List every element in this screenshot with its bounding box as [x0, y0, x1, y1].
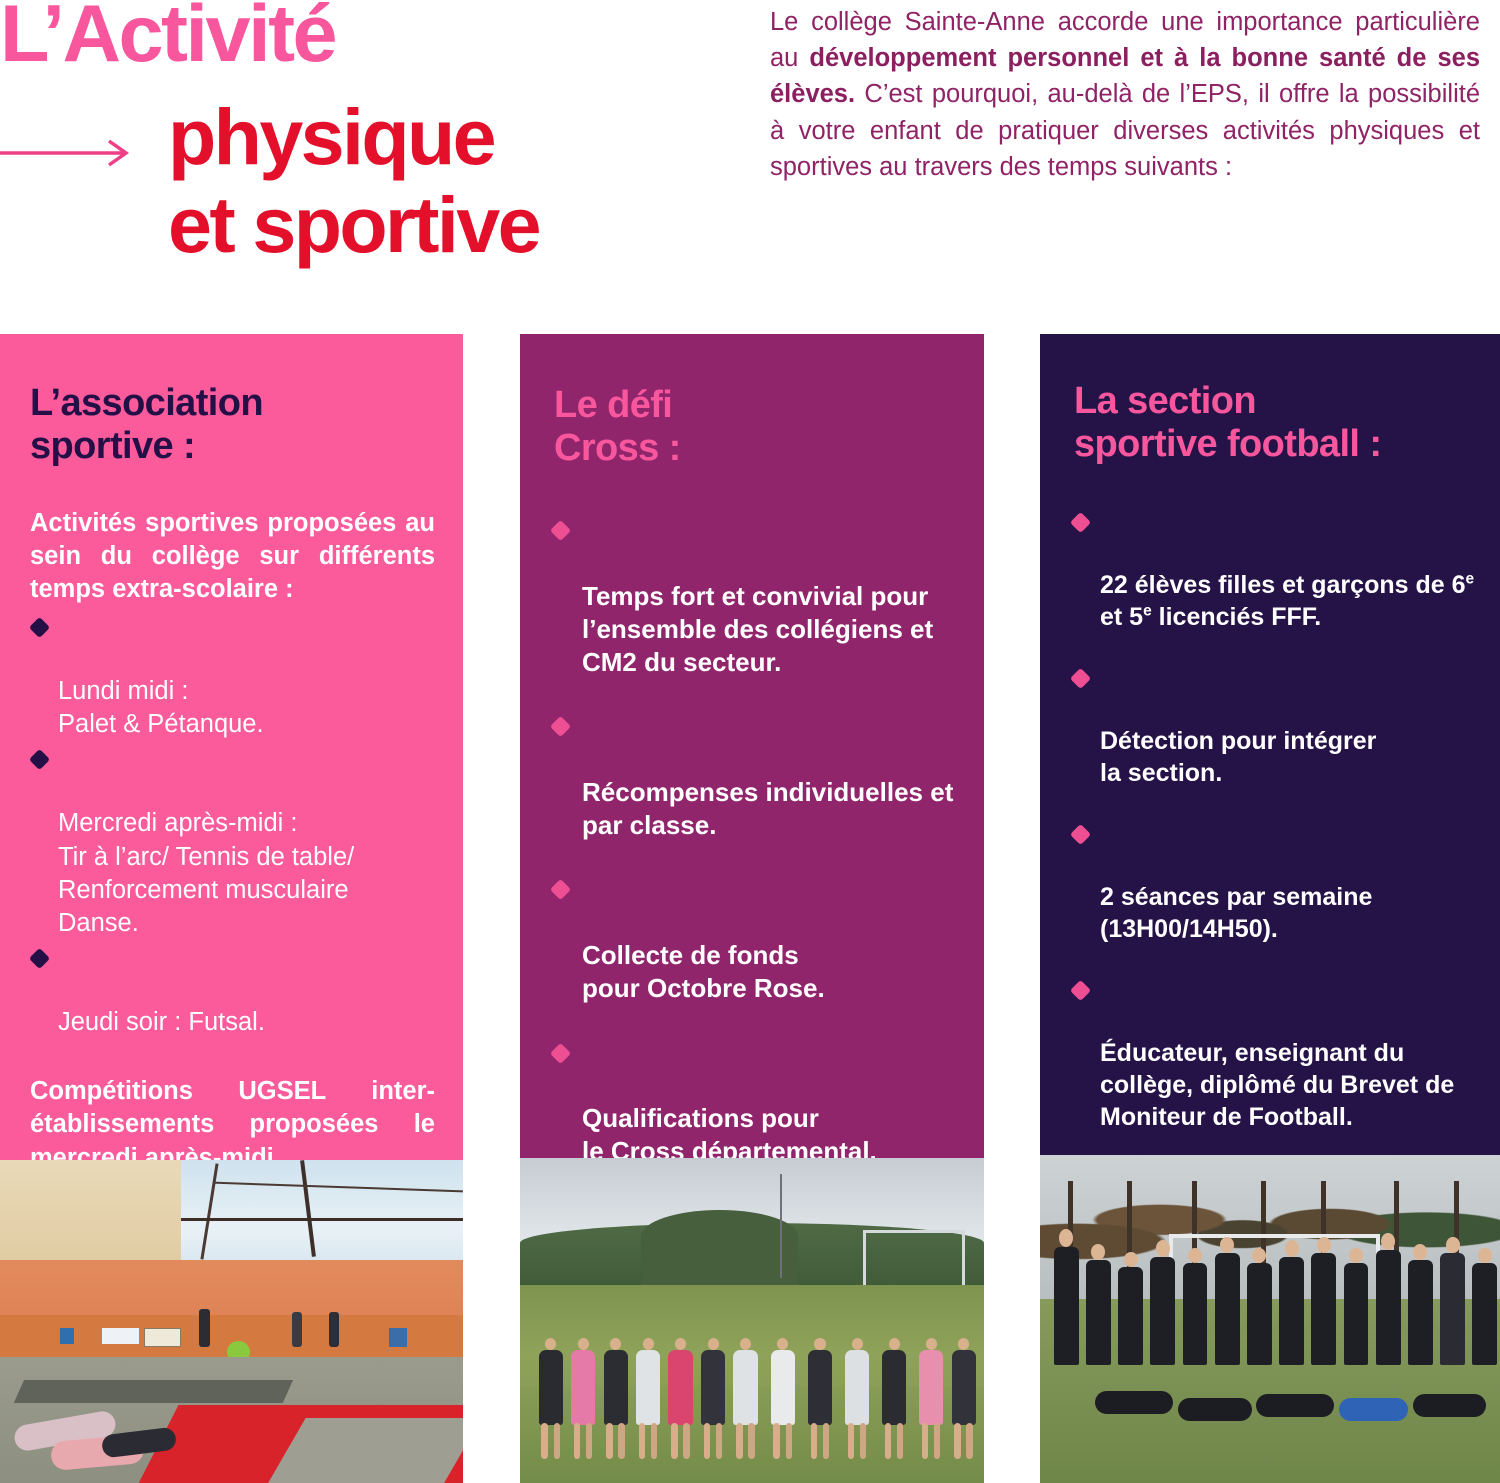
diamond-bullet-icon [1070, 980, 1091, 1001]
list-item-label: Mercredi après-midi : Tir à l’arc/ Tenni… [58, 809, 354, 936]
card-association-heading: L’association sportive : [0, 334, 463, 467]
list-item: Éducateur, enseignant du collège, diplôm… [1072, 973, 1478, 1133]
football-team-photo [1040, 1155, 1500, 1483]
diamond-bullet-icon [550, 520, 571, 541]
diamond-bullet-icon [550, 716, 571, 737]
card-cross-heading: Le défi Cross : [520, 334, 984, 469]
list-item-label: Collecte de fonds pour Octobre Rose. [582, 940, 825, 1003]
diamond-bullet-icon [29, 948, 50, 969]
association-activity-list: Lundi midi : Palet & Pétanque. Mercredi … [30, 609, 435, 1040]
card-association-content: Activités sportives proposées au sein du… [0, 467, 463, 1160]
football-bullet-list: 22 élèves filles et garçons de 6e et 5e … [1040, 465, 1500, 1155]
gymnase-training-photo [0, 1160, 463, 1483]
diamond-bullet-icon [29, 616, 50, 637]
page-header: L’Activité physique et sportive Le collè… [0, 0, 1500, 334]
diamond-bullet-icon [1070, 824, 1091, 845]
list-item: 2 séances par semaine (13H00/14H50). [1072, 817, 1478, 945]
diamond-bullet-icon [29, 749, 50, 770]
association-lead-text: Activités sportives proposées au sein du… [30, 507, 435, 606]
list-item-label: Détection pour intégrer la section. [1100, 727, 1376, 787]
column-gap-2 [984, 334, 1040, 1483]
card-section-sportive-football: La section sportive football : 22 élèves… [1040, 334, 1500, 1483]
list-item-label: Temps fort et convivial pour l’ensemble … [582, 581, 933, 678]
list-item-label: Éducateur, enseignant du collège, diplôm… [1100, 1039, 1454, 1131]
list-item-label: Lundi midi : Palet & Pétanque. [58, 677, 264, 738]
list-item: Mercredi après-midi : Tir à l’arc/ Tenni… [30, 741, 435, 940]
card-football-body: La section sportive football : 22 élèves… [1040, 334, 1500, 1155]
intro-text-2: C’est pourquoi, au-delà de l’EPS, il off… [770, 80, 1480, 180]
card-association-sportive: L’association sportive : Activités sport… [0, 334, 463, 1483]
page-title-line-1: L’Activité [0, 0, 335, 75]
page-title-line-2: physique [168, 100, 494, 173]
list-item-label: Jeudi soir : Futsal. [58, 1008, 265, 1036]
title-block: L’Activité physique et sportive [0, 0, 720, 300]
card-association-body: L’association sportive : Activités sport… [0, 334, 463, 1160]
list-item: Détection pour intégrer la section. [1072, 661, 1478, 789]
list-item: Temps fort et convivial pour l’ensemble … [552, 513, 954, 679]
list-item: Qualifications pour le Cross département… [552, 1036, 954, 1158]
diamond-bullet-icon [550, 879, 571, 900]
diamond-bullet-icon [1070, 668, 1091, 689]
list-item-label: 22 élèves filles et garçons de 6e et 5e … [1100, 571, 1474, 631]
association-footer-text: Compétitions UGSEL inter-établissements … [30, 1075, 435, 1160]
cross-country-race-photo [520, 1158, 984, 1483]
diamond-bullet-icon [1070, 512, 1091, 533]
cards-row: L’association sportive : Activités sport… [0, 334, 1500, 1483]
list-item: Jeudi soir : Futsal. [30, 940, 435, 1039]
column-gap-1 [463, 334, 520, 1483]
page-title-line-3: et sportive [168, 188, 539, 261]
list-item-label: Qualifications pour le Cross département… [582, 1103, 877, 1158]
list-item-label: Récompenses individuelles et par classe. [582, 777, 953, 840]
arrow-right-icon [0, 136, 138, 170]
intro-paragraph: Le collège Sainte-Anne accorde une impor… [770, 4, 1480, 185]
card-defi-cross: Le défi Cross : Temps fort et convivial … [520, 334, 984, 1483]
list-item-label: 2 séances par semaine (13H00/14H50). [1100, 883, 1372, 943]
cross-bullet-list: Temps fort et convivial pour l’ensemble … [520, 469, 984, 1158]
card-cross-body: Le défi Cross : Temps fort et convivial … [520, 334, 984, 1158]
list-item: 22 élèves filles et garçons de 6e et 5e … [1072, 505, 1478, 633]
diamond-bullet-icon [550, 1042, 571, 1063]
list-item: Collecte de fonds pour Octobre Rose. [552, 872, 954, 1005]
card-football-heading: La section sportive football : [1040, 334, 1500, 465]
list-item: Lundi midi : Palet & Pétanque. [30, 609, 435, 742]
list-item: Récompenses individuelles et par classe. [552, 709, 954, 842]
